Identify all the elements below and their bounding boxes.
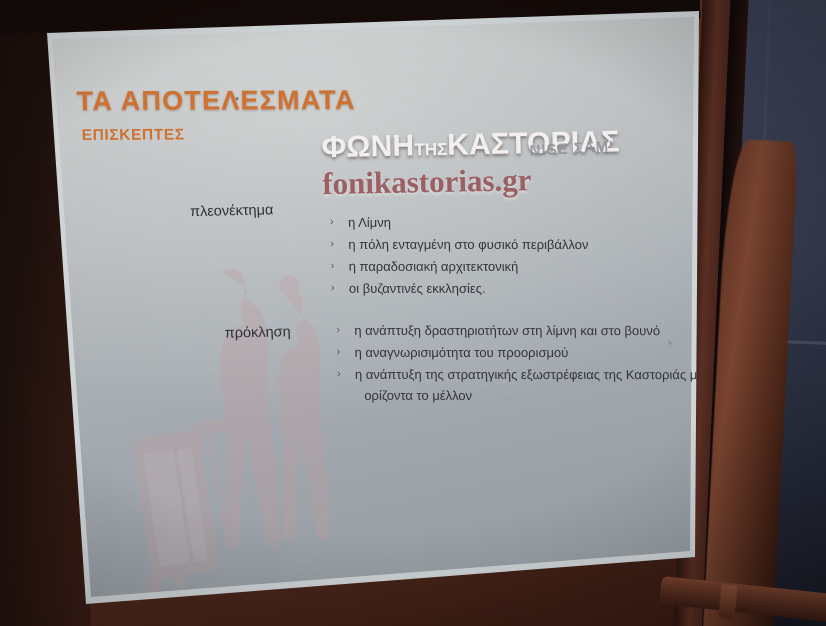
list-item: η ανάπτυξη δραστηριοτήτων στη λίμνη και … bbox=[332, 321, 702, 342]
list-item: η Λίμνη bbox=[326, 213, 588, 234]
list-item: η παραδοσιακή αρχιτεκτονική bbox=[326, 257, 588, 278]
block-label-challenge: πρόκληση bbox=[224, 324, 290, 341]
dust-spot bbox=[236, 97, 239, 100]
travellers-silhouette-graphic bbox=[109, 251, 380, 605]
list-item-continuation: ορίζοντα το μέλλον bbox=[355, 385, 703, 406]
list-item: η αναγνωρισιμότητα του προορισμού bbox=[332, 343, 702, 364]
block-label-advantage: πλεονέκτημα bbox=[190, 202, 274, 220]
bullet-list-challenge: η ανάπτυξη δραστηριοτήτων στη λίμνη και … bbox=[332, 321, 703, 408]
slide-subtitle: ΕΠΙΣΚΕΠΤΕΣ bbox=[82, 126, 185, 144]
list-item: η πόλη ενταγμένη στο φυσικό περιβάλλον bbox=[326, 235, 588, 256]
slide-title: ΤΑ ΑΠΟΤΕΛΕΣΜΑΤΑ bbox=[76, 85, 356, 117]
list-item: οι βυζαντινές εκκλησίες. bbox=[327, 279, 589, 300]
slide-content: ΤΑ ΑΠΟΤΕΛΕΣΜΑΤΑ ΕΠΙΣΚΕΠΤΕΣ πλεονέκτημα η… bbox=[47, 6, 715, 605]
bullet-list-advantage: η Λίμνη η πόλη ενταγμένη στο φυσικό περι… bbox=[326, 213, 589, 301]
photo-stage: ΤΑ ΑΠΟΤΕΛΕΣΜΑΤΑ ΕΠΙΣΚΕΠΤΕΣ πλεονέκτημα η… bbox=[0, 0, 826, 626]
list-item-text: η ανάπτυξη της στρατηγικής εξωστρέφειας … bbox=[355, 367, 703, 382]
list-item: η ανάπτυξη της στρατηγικής εξωστρέφειας … bbox=[333, 365, 704, 406]
